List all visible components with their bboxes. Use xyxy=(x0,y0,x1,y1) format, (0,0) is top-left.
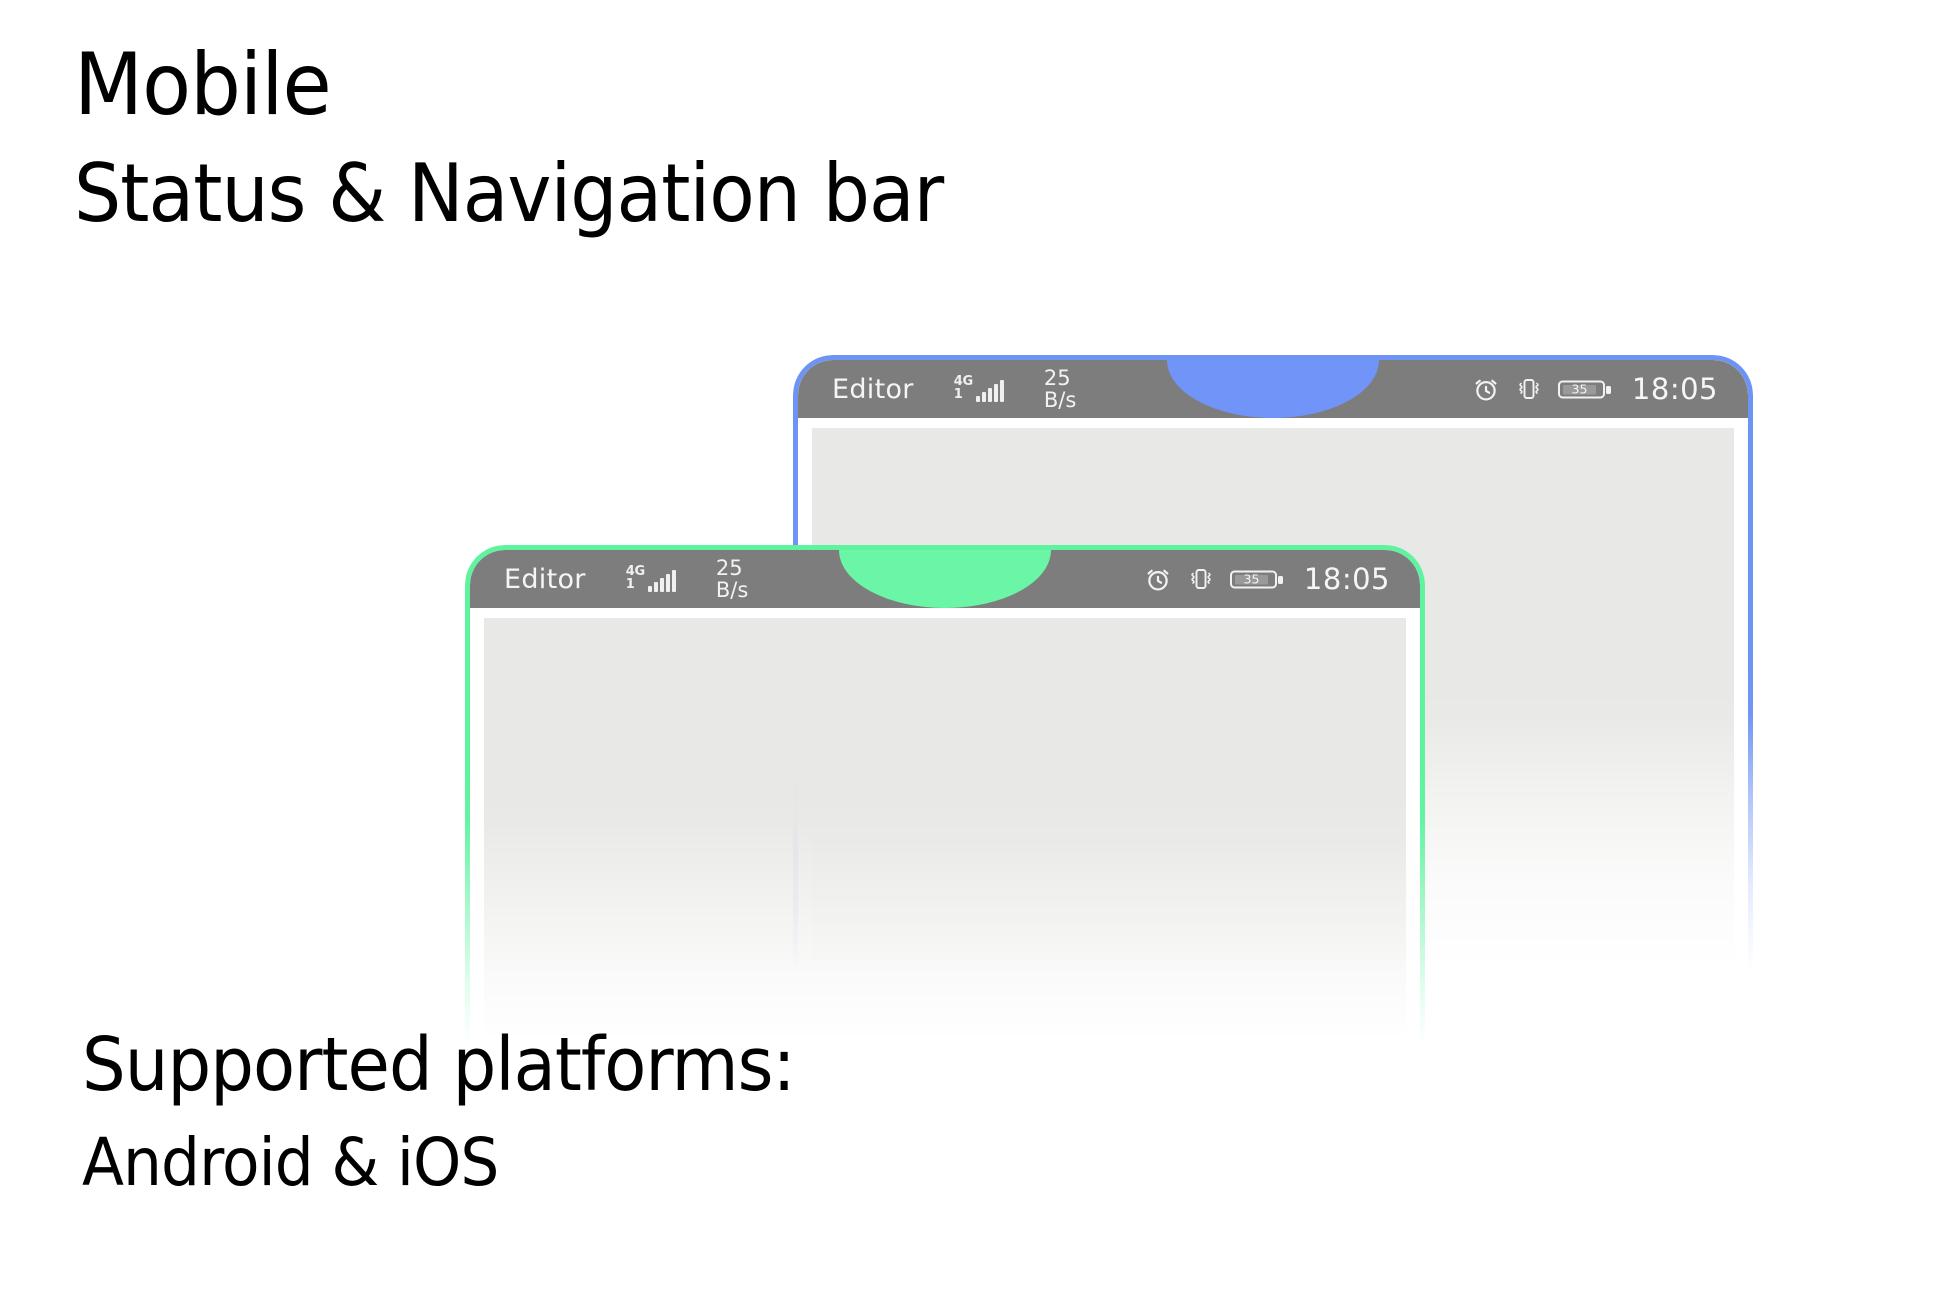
clock-blue: 18:05 xyxy=(1632,372,1718,406)
app-title-blue: Editor xyxy=(832,374,914,405)
page-title: Mobile xyxy=(74,42,1190,128)
vibrate-icon-green xyxy=(1186,565,1216,593)
data-speed-value-blue: 25 xyxy=(1044,367,1071,389)
display-notch-blue xyxy=(1167,360,1379,418)
network-sim-blue: 1 xyxy=(954,389,973,401)
battery-level-blue: 35 xyxy=(1571,382,1587,397)
signal-bars-icon-green: 4G 1 xyxy=(626,566,676,592)
data-speed-green: 25 B/s xyxy=(716,557,748,602)
signal-strength-bars-blue xyxy=(976,380,1004,402)
network-labels-blue: 4G 1 xyxy=(954,376,973,401)
supported-platforms-block: Supported platforms: Android & iOS xyxy=(82,1028,1282,1196)
status-bar-left-cluster-blue: Editor 4G 1 25 B/s xyxy=(798,367,1076,412)
content-panel-green xyxy=(484,618,1406,1045)
signal-strength-bars-green xyxy=(648,570,676,592)
status-bar-left-cluster-green: Editor 4G 1 25 B/s xyxy=(470,557,748,602)
status-bar-right-cluster-blue: 35 18:05 xyxy=(1472,372,1748,406)
battery-level-green: 35 xyxy=(1243,572,1259,587)
status-bar-green: Editor 4G 1 25 B/s xyxy=(470,550,1420,608)
data-speed-unit-green: B/s xyxy=(716,579,748,601)
display-notch-green xyxy=(839,550,1051,608)
signal-bars-icon-blue: 4G 1 xyxy=(954,376,1004,402)
status-bar-right-cluster-green: 35 18:05 xyxy=(1144,562,1420,596)
data-speed-unit-blue: B/s xyxy=(1044,389,1076,411)
data-speed-value-green: 25 xyxy=(716,557,743,579)
slide-title-block: Mobile Status & Navigation bar xyxy=(74,42,1274,234)
alarm-clock-icon-blue xyxy=(1472,375,1500,403)
supported-platforms-value: Android & iOS xyxy=(82,1130,1198,1196)
phone-screen-green xyxy=(470,608,1420,1045)
vibrate-icon-blue xyxy=(1514,375,1544,403)
data-speed-blue: 25 B/s xyxy=(1044,367,1076,412)
network-labels-green: 4G 1 xyxy=(626,566,645,591)
page-subtitle: Status & Navigation bar xyxy=(74,154,1190,234)
phone-mockup-green: Editor 4G 1 25 B/s xyxy=(465,545,1425,1045)
battery-icon-green: 35 xyxy=(1230,565,1286,593)
network-sim-green: 1 xyxy=(626,579,645,591)
clock-green: 18:05 xyxy=(1304,562,1390,596)
alarm-clock-icon-green xyxy=(1144,565,1172,593)
battery-icon-blue: 35 xyxy=(1558,375,1614,403)
supported-platforms-label: Supported platforms: xyxy=(82,1028,1198,1102)
app-title-green: Editor xyxy=(504,564,586,595)
status-bar-blue: Editor 4G 1 25 B/s xyxy=(798,360,1748,418)
